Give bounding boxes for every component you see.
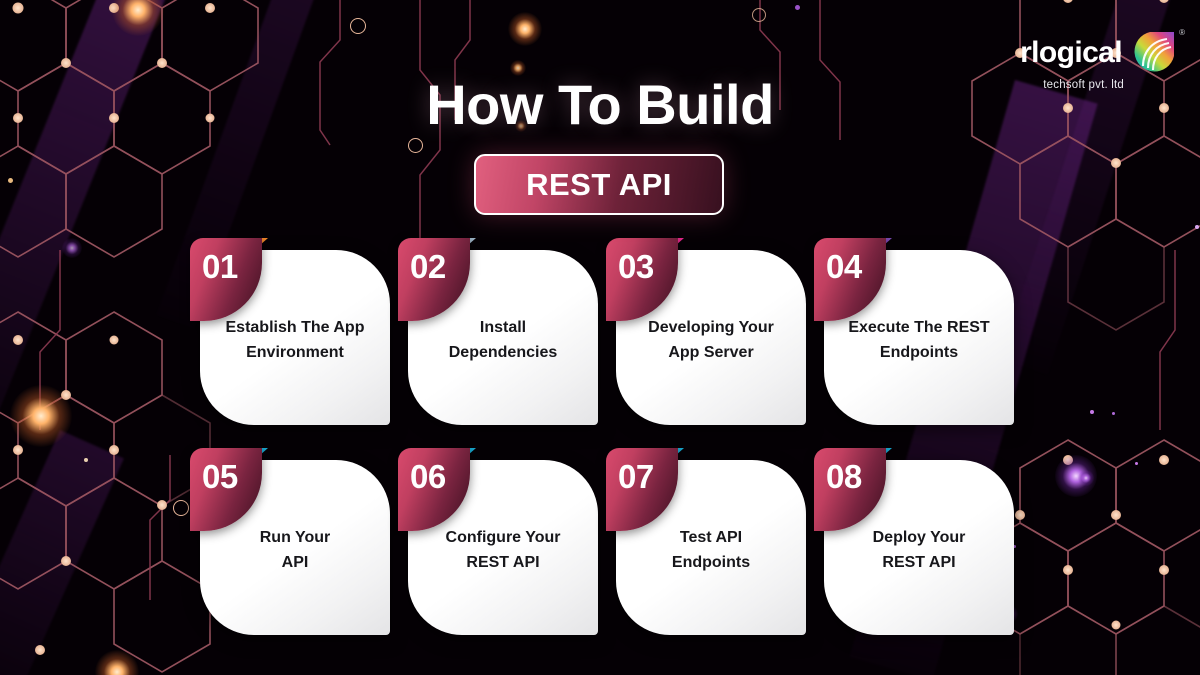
card-title-line2: Endpoints <box>624 551 798 576</box>
card-title-line2: REST API <box>832 551 1006 576</box>
card-title-line2: REST API <box>416 551 590 576</box>
card-title-line2: API <box>208 551 382 576</box>
card-number: 07 <box>618 460 654 493</box>
card-title: Run YourAPI <box>200 526 390 576</box>
card-number: 04 <box>826 250 862 283</box>
card-title: Deploy YourREST API <box>824 526 1014 576</box>
registered-trademark-icon: ® <box>1179 28 1185 37</box>
card-title-line1: Run Your <box>208 526 382 551</box>
logo-row: rlogical ® <box>1020 30 1176 76</box>
card-number: 01 <box>202 250 238 283</box>
card-title-line1: Install <box>416 316 590 341</box>
card-number: 02 <box>410 250 446 283</box>
step-card-06[interactable]: 06Configure YourREST API <box>398 448 598 635</box>
card-title: Developing YourApp Server <box>616 316 806 366</box>
card-title-line1: Execute The REST <box>832 316 1006 341</box>
card-number: 08 <box>826 460 862 493</box>
logo-wordmark: rlogical <box>1020 38 1122 68</box>
card-title: Establish The AppEnvironment <box>200 316 390 366</box>
card-title-line2: Endpoints <box>832 341 1006 366</box>
step-card-08[interactable]: 08Deploy YourREST API <box>814 448 1014 635</box>
card-title-line2: Dependencies <box>416 341 590 366</box>
logo-tagline: techsoft pvt. ltd <box>1043 79 1124 91</box>
card-title-line1: Test API <box>624 526 798 551</box>
step-card-04[interactable]: 04Execute The RESTEndpoints <box>814 238 1014 425</box>
card-title: InstallDependencies <box>408 316 598 366</box>
card-title-line1: Deploy Your <box>832 526 1006 551</box>
card-title-line1: Developing Your <box>624 316 798 341</box>
card-title-line2: App Server <box>624 341 798 366</box>
step-card-03[interactable]: 03Developing YourApp Server <box>606 238 806 425</box>
step-card-07[interactable]: 07Test APIEndpoints <box>606 448 806 635</box>
rest-api-badge-label: REST API <box>526 167 672 203</box>
rest-api-badge: REST API <box>474 154 724 215</box>
card-title: Configure YourREST API <box>408 526 598 576</box>
step-card-05[interactable]: 05Run YourAPI <box>190 448 390 635</box>
card-title-line1: Establish The App <box>208 316 382 341</box>
card-title-line2: Environment <box>208 341 382 366</box>
rlogical-teardrop-icon: ® <box>1130 30 1176 76</box>
step-card-01[interactable]: 01Establish The AppEnvironment <box>190 238 390 425</box>
card-title: Execute The RESTEndpoints <box>824 316 1014 366</box>
card-number: 06 <box>410 460 446 493</box>
step-card-02[interactable]: 02InstallDependencies <box>398 238 598 425</box>
card-number: 03 <box>618 250 654 283</box>
card-title-line1: Configure Your <box>416 526 590 551</box>
card-number: 05 <box>202 460 238 493</box>
brand-logo[interactable]: rlogical ® <box>1020 30 1176 91</box>
card-title: Test APIEndpoints <box>616 526 806 576</box>
